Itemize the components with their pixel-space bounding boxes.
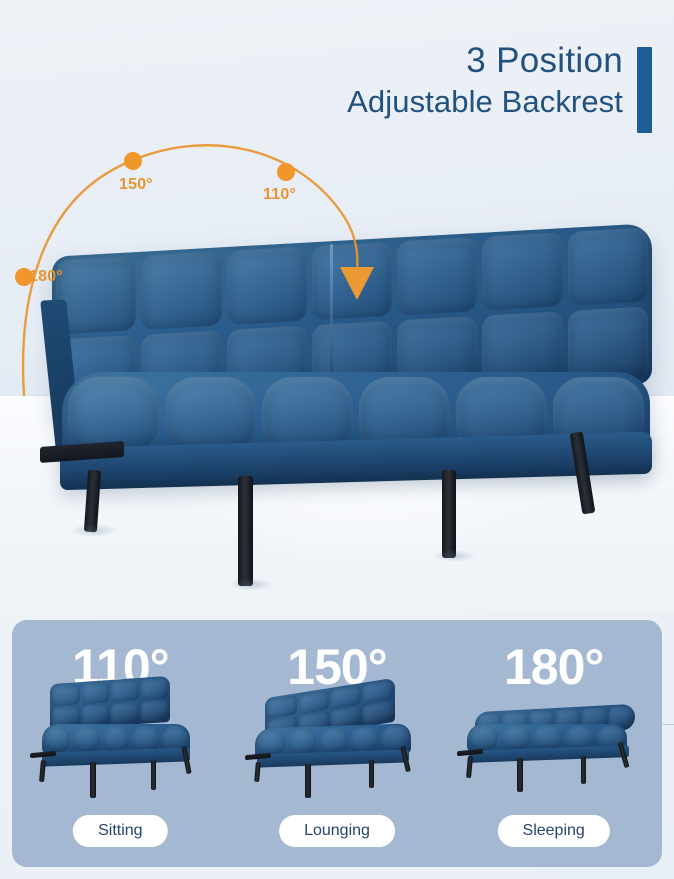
leg-shadow	[228, 578, 274, 591]
angle-label-110: 110°	[263, 186, 296, 204]
sofa-leg	[238, 476, 253, 586]
sofa-illustration-lounging	[229, 672, 446, 802]
angle-label-180: 180°	[29, 268, 63, 286]
leg-shadow	[70, 524, 118, 537]
position-column-sitting: 110° Sitting	[12, 620, 229, 867]
sofa-illustration-sleeping	[445, 672, 662, 802]
headline-line-1: 3 Position	[347, 40, 623, 83]
positions-card: 110° Sitting	[12, 620, 662, 867]
position-column-sleeping: 180° Sleep	[445, 620, 662, 867]
position-label-sleeping: Sleeping	[498, 815, 610, 847]
headline-line-2: Adjustable Backrest	[347, 83, 623, 122]
leg-shadow	[432, 550, 476, 562]
sofa-illustration-sitting	[12, 672, 229, 802]
position-column-lounging: 150° Lounging	[229, 620, 446, 867]
position-label-lounging: Lounging	[279, 815, 395, 847]
hero-photo-area: 180° 150° 110° 3 Position Adjustable Bac…	[0, 0, 674, 614]
sofa-leg	[442, 470, 456, 558]
headline-block: 3 Position Adjustable Backrest	[347, 40, 652, 133]
angle-label-150: 150°	[119, 176, 153, 194]
product-feature-image: 180° 150° 110° 3 Position Adjustable Bac…	[0, 0, 674, 879]
position-label-sitting: Sitting	[73, 815, 167, 847]
headline-accent-bar	[637, 47, 652, 133]
